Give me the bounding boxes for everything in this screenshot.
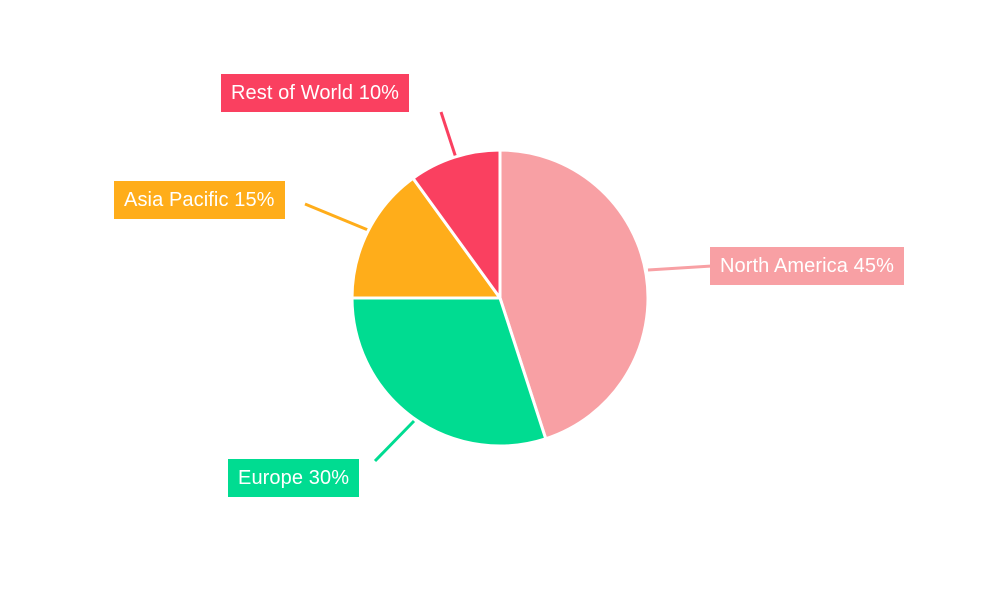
slice-label-europe[interactable]: Europe 30% [228, 459, 359, 497]
pie-chart [0, 0, 1000, 600]
leader-line-rest-of-world [441, 112, 457, 161]
pie-wedge-group [352, 150, 648, 446]
chart-canvas: North America 45% Europe 30% Asia Pacifi… [0, 0, 1000, 600]
leader-line-north-america [648, 266, 712, 270]
leader-line-europe [375, 421, 414, 461]
slice-label-asia-pacific[interactable]: Asia Pacific 15% [114, 181, 285, 219]
slice-label-north-america[interactable]: North America 45% [710, 247, 904, 285]
leader-line-asia-pacific [305, 204, 368, 230]
slice-label-rest-of-world[interactable]: Rest of World 10% [221, 74, 409, 112]
